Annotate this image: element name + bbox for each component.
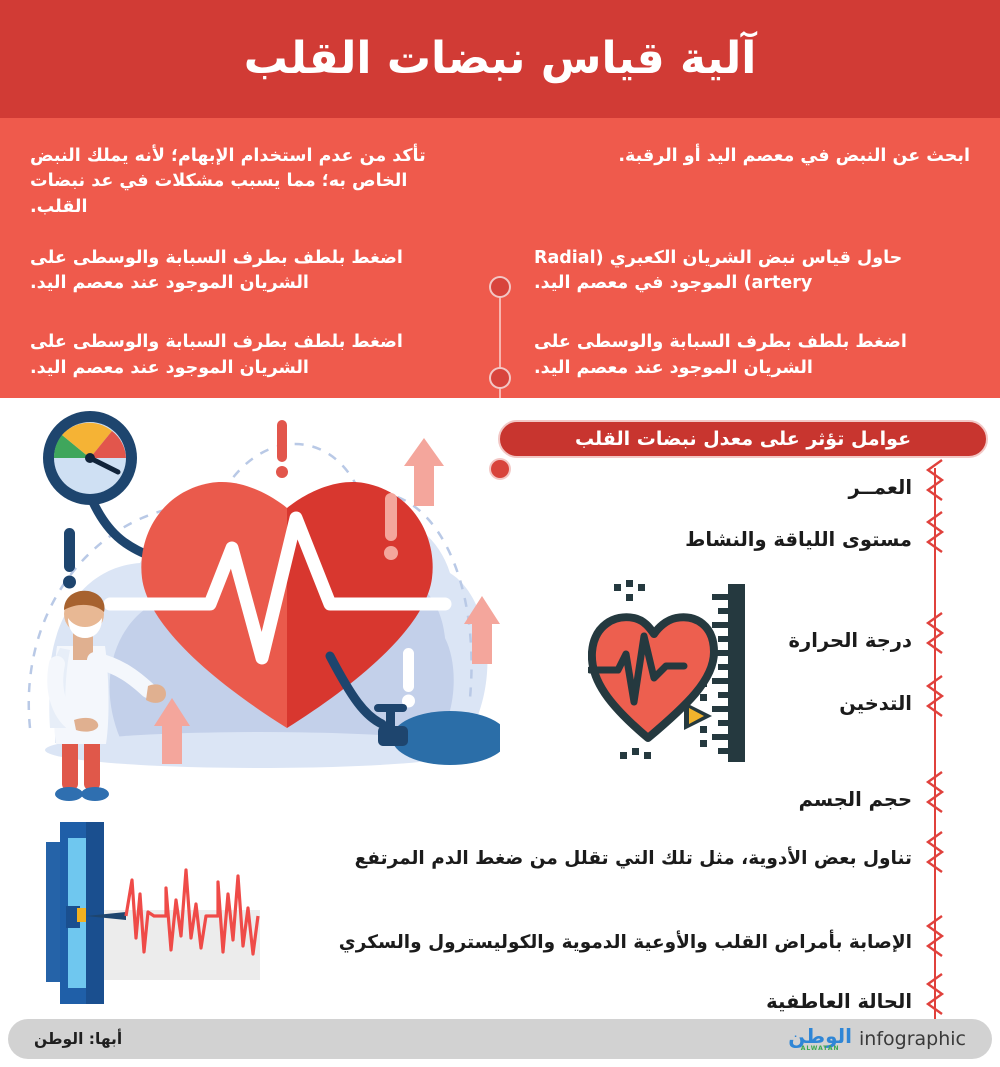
factor-item-smoking: التدخين [839, 692, 912, 715]
factor-item-disease: الإصابة بأمراض القلب والأوعية الدموية وا… [339, 932, 912, 953]
factors-panel: عوامل تؤثر على معدل نبضات القلب [470, 398, 1000, 1018]
pulse-zigzag-icon [922, 510, 946, 554]
pulse-zigzag-icon [922, 972, 946, 1016]
steps-column-right: ابحث عن النبض في معصم اليد أو الرقبة. حا… [500, 118, 1000, 398]
step-item: اضغط بلطف بطرف السبابة والوسطى على الشري… [534, 313, 970, 398]
factor-item-medication: تناول بعض الأدوية، مثل تلك التي تقلل من … [355, 848, 912, 869]
heart-thermometer-icon [588, 576, 768, 776]
header-bar: آلية قياس نبضات القلب [0, 0, 1000, 118]
timeline-dot-1 [489, 276, 511, 298]
brand-logo: الوطن ALWATAN infographic [788, 1026, 966, 1052]
step-item: اضغط بلطف بطرف السبابة والوسطى على الشري… [30, 229, 466, 314]
steps-column-left: تأكد من عدم استخدام الإبهام؛ لأنه يملك ا… [0, 118, 500, 398]
infographic-word: infographic [859, 1028, 966, 1050]
step-text-right-1: ابحث عن النبض في معصم اليد أو الرقبة. [618, 144, 970, 169]
steps-band: ابحث عن النبض في معصم اليد أو الرقبة. حا… [0, 118, 1000, 398]
step-text-left-3: اضغط بلطف بطرف السبابة والوسطى على الشري… [30, 330, 466, 381]
alwatan-latin-wordmark: ALWATAN [801, 1046, 840, 1052]
step-item: اضغط بلطف بطرف السبابة والوسطى على الشري… [30, 313, 466, 398]
exclamation-mark-icon [384, 493, 398, 560]
pulse-zigzag-icon [922, 458, 946, 502]
step-item: تأكد من عدم استخدام الإبهام؛ لأنه يملك ا… [30, 144, 466, 229]
step-text-left-2: اضغط بلطف بطرف السبابة والوسطى على الشري… [30, 246, 466, 297]
heart-illustration [0, 398, 500, 828]
factor-item-emotion: الحالة العاطفية [766, 990, 912, 1013]
page-title: آلية قياس نبضات القلب [244, 35, 757, 83]
factor-item-body-size: حجم الجسم [799, 788, 912, 811]
step-text-left-1: تأكد من عدم استخدام الإبهام؛ لأنه يملك ا… [30, 144, 466, 220]
exclamation-mark-icon [63, 528, 76, 589]
pulse-zigzag-icon [922, 770, 946, 814]
step-text-right-3: اضغط بلطف بطرف السبابة والوسطى على الشري… [534, 330, 970, 381]
alwatan-arabic-wordmark: الوطن [788, 1026, 852, 1046]
pulse-zigzag-icon [922, 611, 946, 655]
source-credit: أبها: الوطن [34, 1030, 122, 1048]
step-item: حاول قياس نبض الشريان الكعبري (Radial ar… [534, 229, 970, 314]
factors-badge: عوامل تؤثر على معدل نبضات القلب [498, 420, 988, 458]
blood-pressure-gauge-icon [43, 411, 155, 558]
pulse-zigzag-icon [922, 914, 946, 958]
pulse-zigzag-icon [922, 830, 946, 874]
step-item: ابحث عن النبض في معصم اليد أو الرقبة. [534, 144, 970, 229]
pulse-zigzag-icon [922, 674, 946, 718]
footer-bar: الوطن ALWATAN infographic أبها: الوطن [8, 1019, 992, 1059]
factor-item-age: العمــر [848, 476, 912, 499]
step-text-right-2: حاول قياس نبض الشريان الكعبري (Radial ar… [534, 246, 970, 297]
exclamation-mark-icon [276, 420, 288, 478]
exclamation-mark-icon [402, 648, 415, 708]
factor-item-temperature: درجة الحرارة [788, 629, 912, 652]
ecg-seismograph-icon [30, 820, 310, 1010]
timeline-dot-2 [489, 367, 511, 389]
alwatan-logo: الوطن ALWATAN [788, 1026, 852, 1052]
infographic-page: آلية قياس نبضات القلب ابحث عن النبض في م… [0, 0, 1000, 1067]
factor-item-fitness: مستوى اللياقة والنشاط [685, 528, 912, 551]
